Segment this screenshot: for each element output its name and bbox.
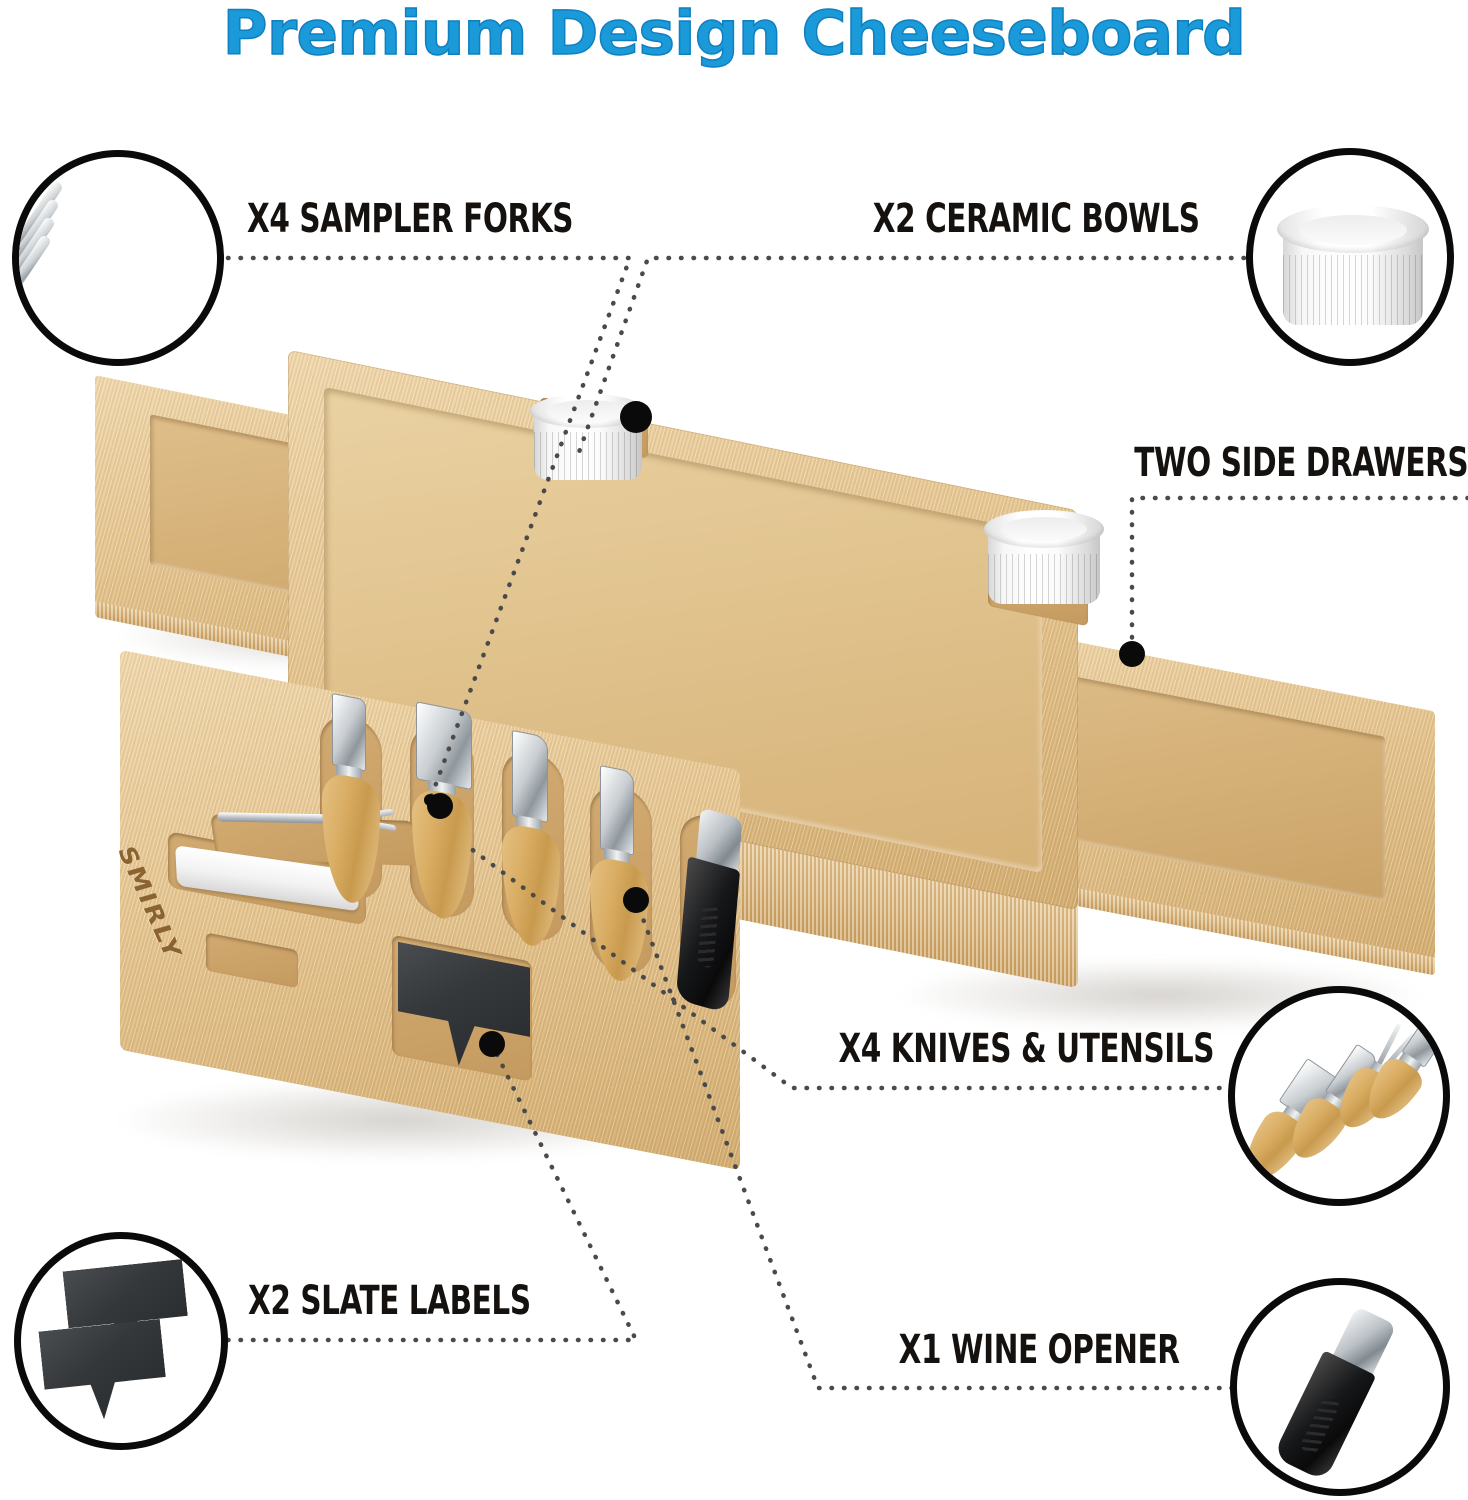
fork-icon: [19, 157, 217, 359]
callout-label-side-drawers: TWO SIDE DRAWERS: [1134, 440, 1468, 486]
ramekin-bowl-icon: [1253, 155, 1447, 359]
cheese-knife-3[interactable]: [498, 727, 570, 953]
callout-label-wine-opener: X1 WINE OPENER: [899, 1327, 1180, 1373]
callout-label-ceramic-bowls: X2 CERAMIC BOWLS: [873, 196, 1200, 242]
callout-label-sampler-forks: X4 SAMPLER FORKS: [247, 196, 573, 242]
infographic-canvas: Premium Design Cheeseboard: [0, 0, 1468, 1500]
callout-label-slate-labels: X2 SLATE LABELS: [248, 1278, 531, 1324]
callout-label-knives-utensils: X4 KNIVES & UTENSILS: [838, 1026, 1214, 1072]
cheese-knife-1[interactable]: [316, 690, 388, 914]
cheese-knife-icon: [1235, 993, 1443, 1199]
corkscrew-icon: [1237, 1285, 1443, 1489]
inset-slate-labels[interactable]: [14, 1232, 228, 1450]
inset-ceramic-bowls[interactable]: [1246, 148, 1454, 366]
ceramic-bowl-top[interactable]: [534, 384, 642, 480]
ceramic-bowl-right[interactable]: [988, 500, 1100, 604]
cheese-knife-2[interactable]: [406, 699, 482, 930]
cheese-knife-4[interactable]: [586, 762, 658, 988]
inset-sampler-forks[interactable]: [12, 150, 224, 366]
inset-wine-opener[interactable]: [1230, 1278, 1450, 1496]
slate-label-icon: [21, 1239, 221, 1443]
inset-knives-utensils[interactable]: [1228, 986, 1450, 1206]
